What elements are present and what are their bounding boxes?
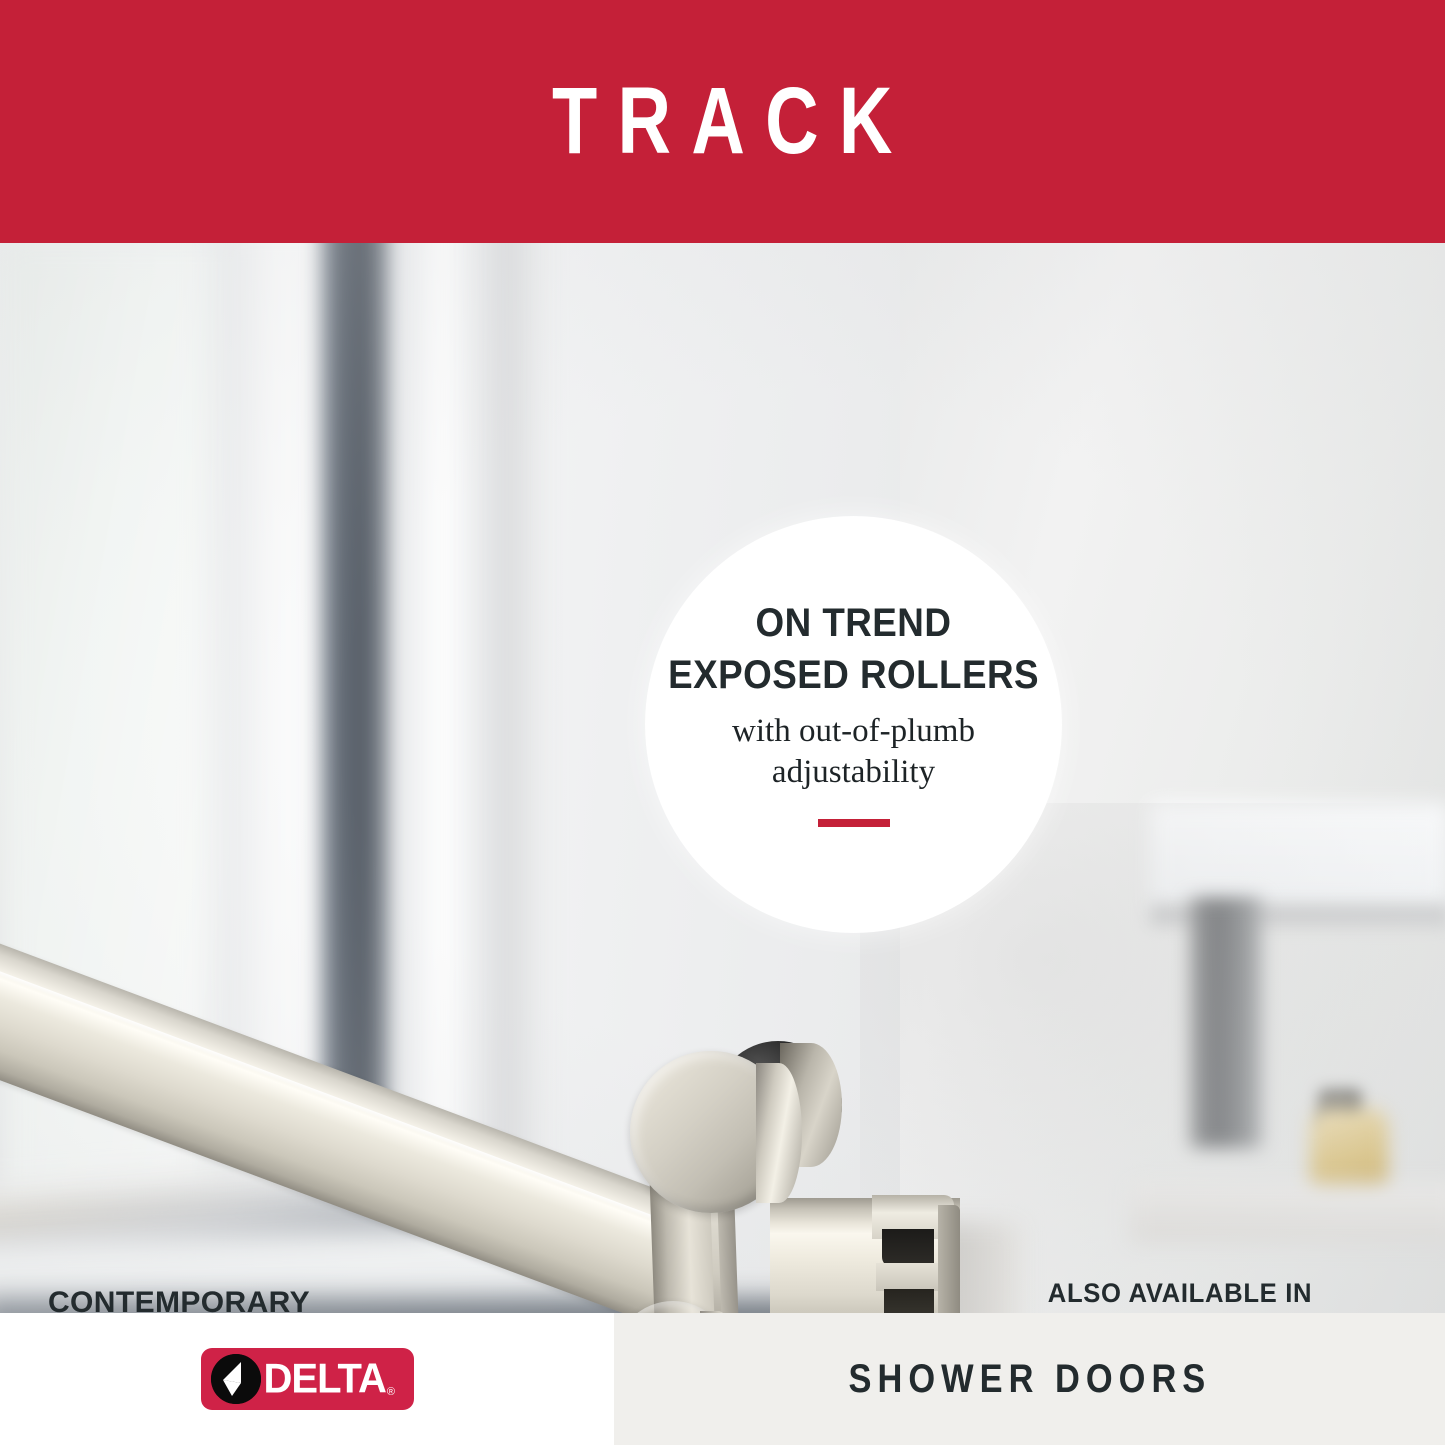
callout-accent-dash <box>818 819 890 827</box>
roller-disc-upper-edge <box>756 1063 802 1203</box>
finish-caption-line1: CONTEMPORARY <box>34 1283 324 1313</box>
registered-mark-icon: ® <box>387 1386 395 1398</box>
header-banner: TRACK <box>0 0 1445 243</box>
page-title: TRACK <box>532 74 913 169</box>
callout-headline-line2: EXPOSED ROLLERS <box>668 654 1039 697</box>
track-channel-bottom-notch <box>884 1289 934 1313</box>
product-feature-card: TRACK <box>0 0 1445 1445</box>
track-channel-end <box>938 1205 960 1313</box>
delta-triangle-icon <box>211 1354 261 1404</box>
delta-wordmark: DELTA <box>264 1358 386 1400</box>
available-finishes-title: ALSO AVAILABLE IN <box>971 1278 1389 1309</box>
footer: DELTA ® SHOWER DOORS <box>0 1313 1445 1445</box>
finish-caption: CONTEMPORARY TRACK IN BRUSHED NICKEL <box>34 1283 324 1313</box>
callout-headline-line1: ON TREND <box>756 602 952 645</box>
callout-subtitle: with out-of-plumb adjustability <box>689 711 1019 793</box>
footer-category-label: SHOWER DOORS <box>848 1357 1211 1402</box>
delta-logo[interactable]: DELTA ® <box>201 1348 414 1410</box>
product-photo: ON TREND EXPOSED ROLLERS with out-of-plu… <box>0 243 1445 1313</box>
track-channel-top-notch <box>882 1229 934 1267</box>
footer-category-panel: SHOWER DOORS <box>614 1313 1445 1445</box>
available-finishes: ALSO AVAILABLE IN CHROME BRONZE MATTE BL… <box>960 1278 1400 1313</box>
feature-callout-circle: ON TREND EXPOSED ROLLERS with out-of-plu… <box>645 516 1062 933</box>
footer-brand-panel: DELTA ® <box>0 1313 614 1445</box>
